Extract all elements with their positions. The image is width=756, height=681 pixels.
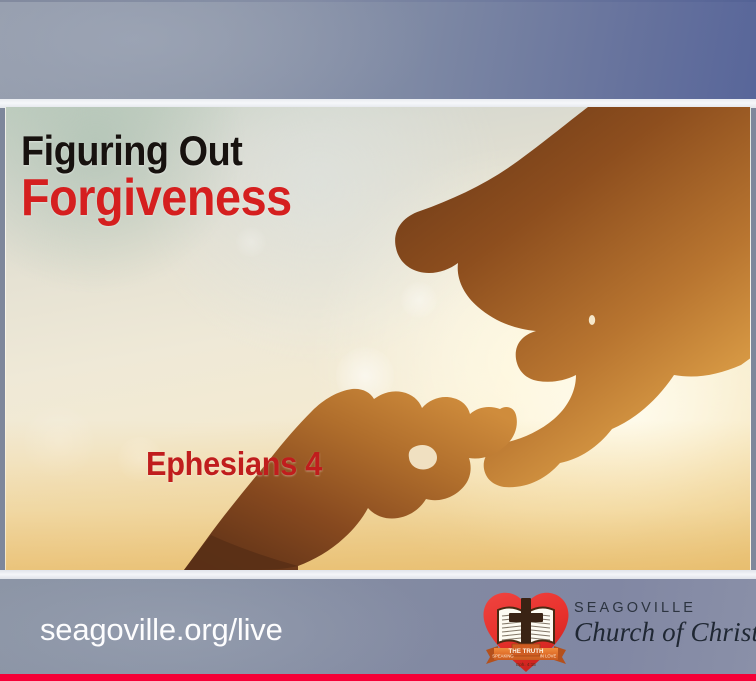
sun-glow: [415, 246, 751, 570]
church-logo-mark-icon: THE TRUTH SPEAKING IN LOVE Eph. 4:15: [480, 588, 572, 674]
top-band-edge-line: [0, 0, 756, 2]
warm-haze: [6, 420, 750, 570]
top-band: [0, 0, 756, 99]
church-logo-wordmark: SEAGOVILLE Church of Christ: [574, 600, 740, 647]
banner-verse-text: Eph. 4:15: [516, 662, 536, 667]
bokeh-spot: [336, 347, 394, 405]
banner-center-text: THE TRUTH: [508, 648, 544, 655]
banner-left-text: SPEAKING: [492, 654, 513, 659]
bokeh-spot: [24, 407, 94, 477]
bokeh-spot: [401, 282, 437, 318]
logo-organization-type: Church of Christ: [574, 617, 740, 647]
scripture-reference: Ephesians 4: [146, 445, 322, 483]
bottom-divider: [0, 570, 756, 579]
sermon-title-line-2: Forgiveness: [21, 171, 292, 225]
church-logo: THE TRUTH SPEAKING IN LOVE Eph. 4:15 SEA…: [480, 588, 740, 674]
sermon-title-line-1: Figuring Out: [21, 129, 292, 173]
slide-title-block: Figuring Out Forgiveness: [21, 129, 322, 225]
logo-organization-name: SEAGOVILLE: [574, 600, 740, 616]
broadcast-slide-frame: Figuring Out Forgiveness Ephesians 4 sea…: [0, 0, 756, 681]
upper-hand-silhouette: [395, 107, 751, 487]
bokeh-spot: [296, 492, 348, 544]
sermon-slide: Figuring Out Forgiveness Ephesians 4: [5, 107, 751, 570]
banner-right-text: IN LOVE: [540, 654, 557, 659]
accent-strip: [0, 674, 756, 681]
bokeh-spot: [236, 227, 266, 257]
live-stream-url[interactable]: seagoville.org/live: [40, 612, 283, 648]
